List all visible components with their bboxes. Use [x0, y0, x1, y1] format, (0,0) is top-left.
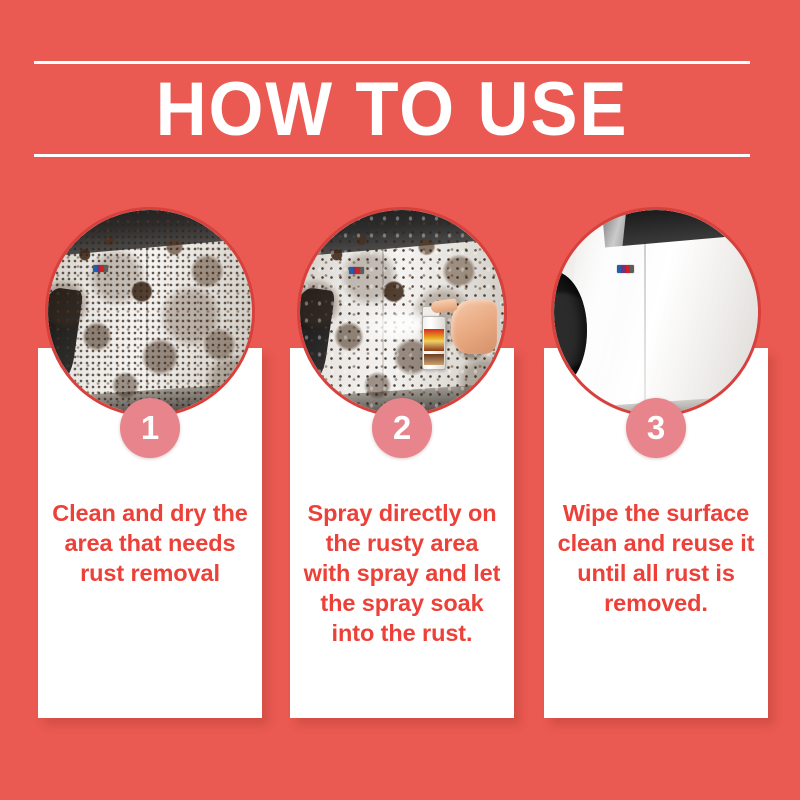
- m-emblem-icon: [349, 267, 364, 274]
- dirt-speckle: [48, 210, 252, 414]
- step-number-badge-1: 1: [120, 398, 180, 458]
- step-number-badge-3: 3: [626, 398, 686, 458]
- hand-icon: [451, 300, 497, 354]
- bottle-label-lower: [424, 354, 444, 365]
- step-number-badge-2: 2: [372, 398, 432, 458]
- infographic-page: HOW TO USE Clean and dry the area that n…: [0, 0, 800, 800]
- step-text-1: Clean and dry the area that needs rust r…: [50, 498, 250, 588]
- clean-panel-image: [554, 210, 758, 414]
- m-emblem-icon: [93, 265, 108, 272]
- step-photo-2: [297, 207, 507, 417]
- m-emblem-icon: [617, 265, 634, 273]
- spray-bottle-icon: [422, 316, 446, 370]
- step-text-3: Wipe the surface clean and reuse it unti…: [556, 498, 756, 618]
- steps-container: Clean and dry the area that needs rust r…: [0, 0, 800, 800]
- step-text-2: Spray directly on the rusty area with sp…: [302, 498, 502, 648]
- rusty-panel-image: [48, 210, 252, 414]
- spraying-image: [300, 210, 504, 414]
- step-photo-3: [551, 207, 761, 417]
- spray-mist: [359, 304, 432, 348]
- step-photo-1: [45, 207, 255, 417]
- bottle-label: [424, 329, 444, 351]
